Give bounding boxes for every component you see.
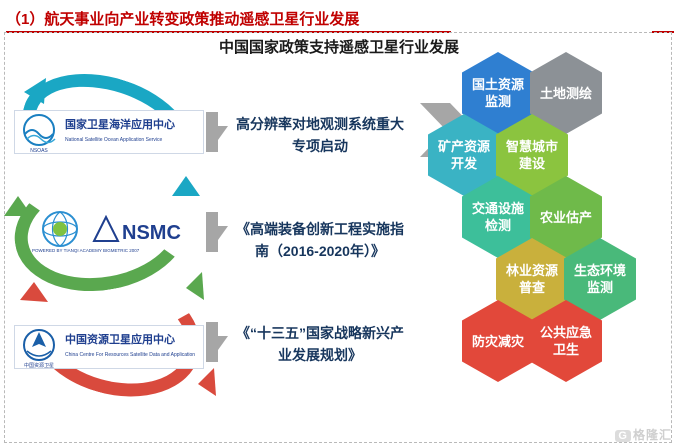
hex-label-1: 土地测绘 — [534, 85, 598, 102]
hex-label-8: 防灾减灾 — [466, 333, 530, 350]
nsmc-text-icon: NSMC — [92, 215, 187, 245]
logo-nsmc-wordmark: NSMC — [92, 215, 187, 250]
policy-item-2: 《高端装备创新工程实施指南（2016-2020年）》 — [232, 218, 408, 262]
hex-label-7: 生态环境监测 — [564, 262, 636, 296]
hex-label-2: 矿产资源开发 — [428, 138, 500, 172]
hex-label-9: 公共应急卫生 — [530, 324, 602, 358]
nsoas-emblem-icon: NSOAS — [17, 112, 63, 154]
policy-item-1: 高分辨率对地观测系统重大专项启动 — [232, 113, 408, 157]
policy-item-3: 《“十三五”国家战略新兴产业发展规划》 — [232, 322, 408, 366]
logo-nsoas-cn: 国家卫星海洋应用中心 — [65, 119, 175, 131]
slide-header: （1）航天事业向产业转变政策推动遥感卫星行业发展 — [0, 4, 678, 30]
watermark: G格隆汇 — [615, 426, 672, 443]
watermark-text: 格隆汇 — [633, 428, 672, 442]
hex-label-5: 农业估产 — [534, 209, 598, 226]
application-hex-grid: 国土资源监测 土地测绘 矿产资源开发 智慧城市建设 交通设施检测 农业估产 林业… — [452, 48, 672, 438]
logo-nsmc: NSMC POWERED BY TIANQI ACADEMY BIGMETRIC… — [30, 205, 190, 260]
logo-nsoas-en: National Satellite Ocean Application Ser… — [65, 137, 162, 144]
hex-label-3: 智慧城市建设 — [496, 138, 568, 172]
logo-cresda-en: China Centre For Resources Satellite Dat… — [65, 352, 195, 359]
hex-label-0: 国土资源监测 — [462, 76, 534, 110]
page-title: （1）航天事业向产业转变政策推动遥感卫星行业发展 — [6, 8, 359, 29]
hex-label-4: 交通设施检测 — [462, 200, 534, 234]
svg-text:NSMC: NSMC — [122, 222, 181, 244]
cresda-emblem-icon: 中国资源卫星 — [17, 327, 63, 369]
svg-text:中国资源卫星: 中国资源卫星 — [24, 362, 54, 369]
hex-label-6: 林业资源普查 — [496, 262, 568, 296]
logo-nsoas: NSOAS 国家卫星海洋应用中心 National Satellite Ocea… — [14, 110, 204, 154]
logo-nsmc-en: POWERED BY TIANQI ACADEMY BIGMETRIC 2007 — [32, 247, 192, 254]
svg-text:NSOAS: NSOAS — [30, 148, 48, 154]
logo-cresda: 中国资源卫星 中国资源卫星应用中心 China Centre For Resou… — [14, 325, 204, 369]
watermark-badge: G — [615, 430, 631, 442]
logo-cresda-cn: 中国资源卫星应用中心 — [65, 334, 175, 346]
